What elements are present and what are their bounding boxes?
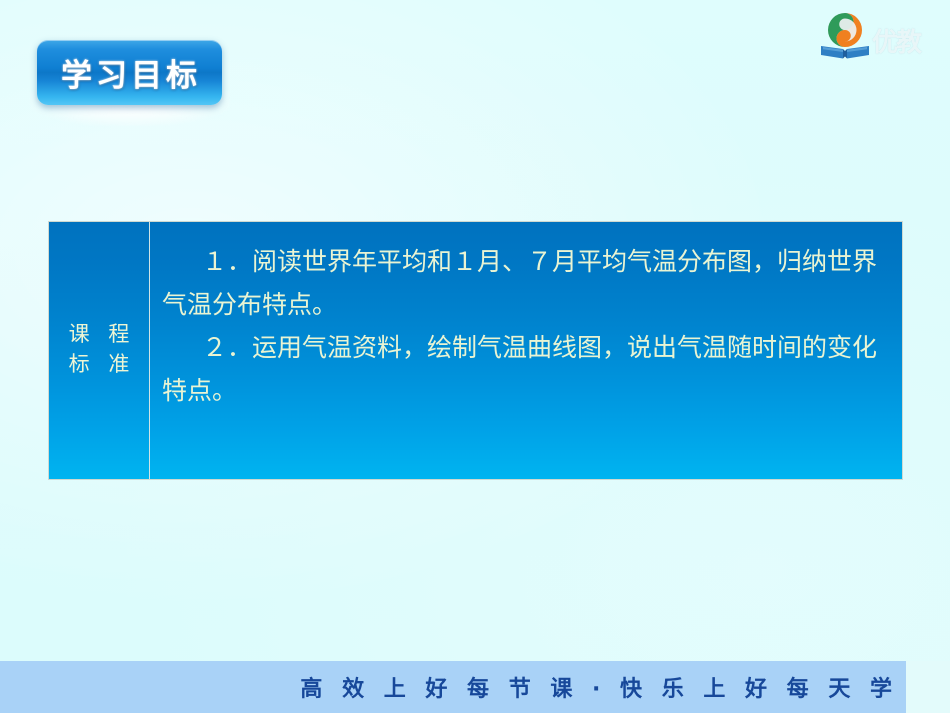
table-body-cell: １．阅读世界年平均和１月、７月平均气温分布图，归纳世界气温分布特点。 ２．运用气… [150, 222, 902, 479]
page-title: 学习目标 [58, 50, 201, 95]
standard-item-1: １．阅读世界年平均和１月、７月平均气温分布图，归纳世界气温分布特点。 [162, 240, 894, 326]
standard-item-2: ２．运用气温资料，绘制气温曲线图，说出气温随时间的变化特点。 [162, 326, 894, 412]
table-row-header-cell: 课 程 标 准 [49, 222, 150, 479]
brand-logo: 优教 [812, 8, 942, 64]
footer-slogan: 高 效 上 好 每 节 课 · 快 乐 上 好 每 天 学 [0, 661, 906, 713]
swirl-book-logo-icon [818, 10, 872, 62]
brand-watermark-text: 优教 [872, 22, 920, 59]
course-standards-table: 课 程 标 准 １．阅读世界年平均和１月、７月平均气温分布图，归纳世界气温分布特… [48, 221, 903, 480]
title-badge-plate: 学习目标 [37, 40, 222, 105]
slide-title-badge: 学习目标 [30, 33, 230, 123]
row-header-line-2: 标 准 [63, 349, 136, 379]
footer-right-strip [906, 661, 950, 713]
row-header-line-1: 课 程 [63, 319, 136, 349]
presentation-slide: 学习目标 优教 课 程 标 准 １．阅读世界年平均和１月、７ [0, 0, 950, 713]
